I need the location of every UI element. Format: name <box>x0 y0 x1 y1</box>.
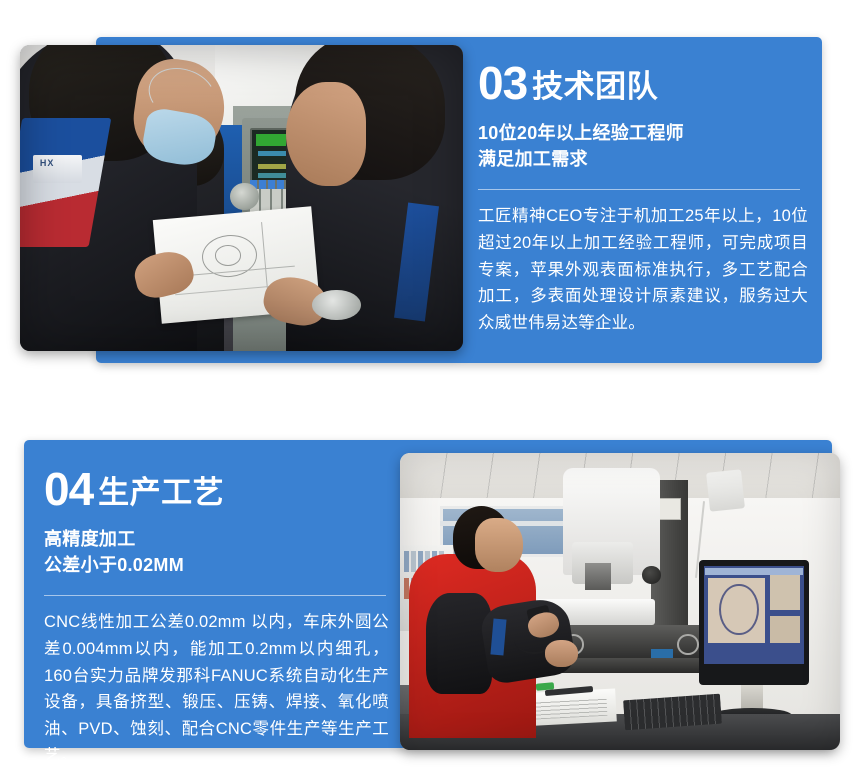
card-04-subtitle: 高精度加工 公差小于0.02MM <box>44 526 389 578</box>
card-04-body: CNC线性加工公差0.02mm 以内，车床外圆公差0.004mm以内，能加工0.… <box>44 609 389 769</box>
card-04-headline: 04生产工艺 <box>44 466 389 512</box>
promo-page: HX 03技术团队 10位20年以上经验工程师 满足加工需求 工匠精神CEO专注… <box>0 0 860 780</box>
measuring-lab-photo-art <box>400 453 840 750</box>
card-04-photo <box>400 453 840 750</box>
feature-card-04: 04生产工艺 高精度加工 公差小于0.02MM CNC线性加工公差0.02mm … <box>0 0 860 780</box>
card-04-text-block: 04生产工艺 高精度加工 公差小于0.02MM CNC线性加工公差0.02mm … <box>44 466 389 770</box>
card-04-number: 04 <box>44 463 93 515</box>
photo-vignette <box>400 453 840 750</box>
card-04-divider <box>44 595 386 596</box>
card-04-title: 生产工艺 <box>98 475 224 510</box>
